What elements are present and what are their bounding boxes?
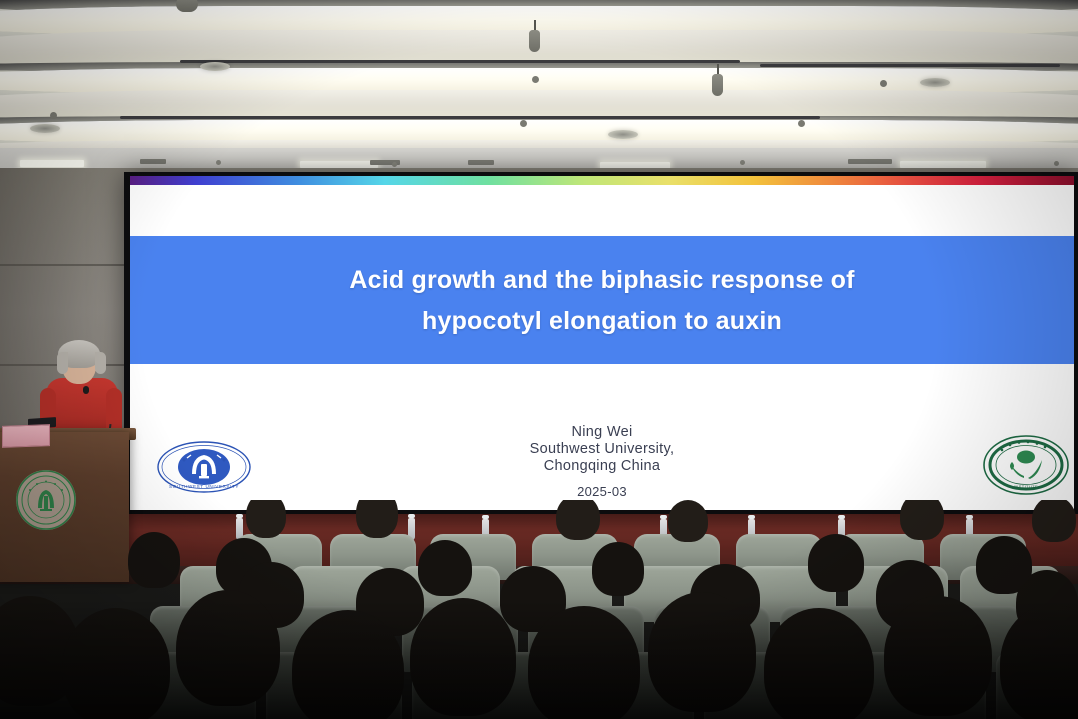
ceiling-downlight	[200, 62, 230, 71]
ceiling-fitting	[798, 120, 805, 127]
presentation-slide: Acid growth and the biphasic response of…	[130, 176, 1074, 510]
slide-title-line-1: Acid growth and the biphasic response of	[130, 260, 1074, 301]
presenter-affiliation-line-2: Chongqing China	[130, 458, 1074, 475]
slide-title-line-2: hypocotyl elongation to auxin	[130, 301, 1074, 342]
audience-member	[648, 592, 756, 712]
presenter-affiliation-line-1: Southwest University,	[130, 441, 1074, 458]
projection-screen-frame: Acid growth and the biphasic response of…	[124, 172, 1078, 514]
audience-member	[884, 596, 992, 716]
seal-text: SOUTHWEST UNIVERSITY	[169, 484, 239, 489]
audience-member	[592, 542, 644, 596]
lapel-microphone-icon	[83, 386, 89, 394]
ceiling-speaker	[712, 74, 723, 96]
ceiling-fitting	[50, 112, 57, 119]
audience-member	[900, 500, 944, 540]
audience-member	[246, 500, 286, 538]
audience-member	[808, 534, 864, 592]
ceiling-speaker	[529, 30, 540, 52]
ceiling-downlight	[30, 124, 60, 133]
ceiling-fitting	[520, 120, 527, 127]
audience-member	[668, 500, 708, 542]
ceiling-downlight	[608, 130, 638, 139]
slide-spectrum-bar	[130, 176, 1074, 185]
audience-member	[1032, 500, 1076, 542]
ceiling-fitting	[880, 80, 887, 87]
audience-member	[528, 606, 640, 719]
slide-title-band: Acid growth and the biphasic response of…	[130, 236, 1074, 364]
presenter-name: Ning Wei	[130, 424, 1074, 441]
green-institute-seal-logo: INSTITUTE	[982, 434, 1070, 496]
presenter	[44, 340, 130, 440]
ceiling-downlight	[920, 78, 950, 87]
ceiling-speaker	[176, 0, 198, 12]
audience-member	[764, 608, 874, 719]
audience-member	[292, 610, 404, 719]
audience-member	[418, 540, 472, 596]
audience-area	[0, 500, 1078, 719]
seal-text: INSTITUTE	[1014, 484, 1038, 489]
audience-member	[556, 500, 600, 540]
southwest-university-seal-logo: SOUTHWEST UNIVERSITY	[156, 440, 252, 494]
presenter-info: Ning Wei Southwest University, Chongqing…	[130, 424, 1074, 500]
audience-member	[62, 608, 170, 719]
podium-name-card	[2, 424, 50, 448]
audience-member	[176, 590, 280, 706]
ceiling-fitting	[532, 76, 539, 83]
audience-member	[356, 500, 398, 538]
audience-member	[128, 532, 180, 588]
presentation-date: 2025-03	[130, 483, 1074, 500]
audience-member	[410, 598, 516, 716]
lecture-hall-photo: Acid growth and the biphasic response of…	[0, 0, 1078, 719]
